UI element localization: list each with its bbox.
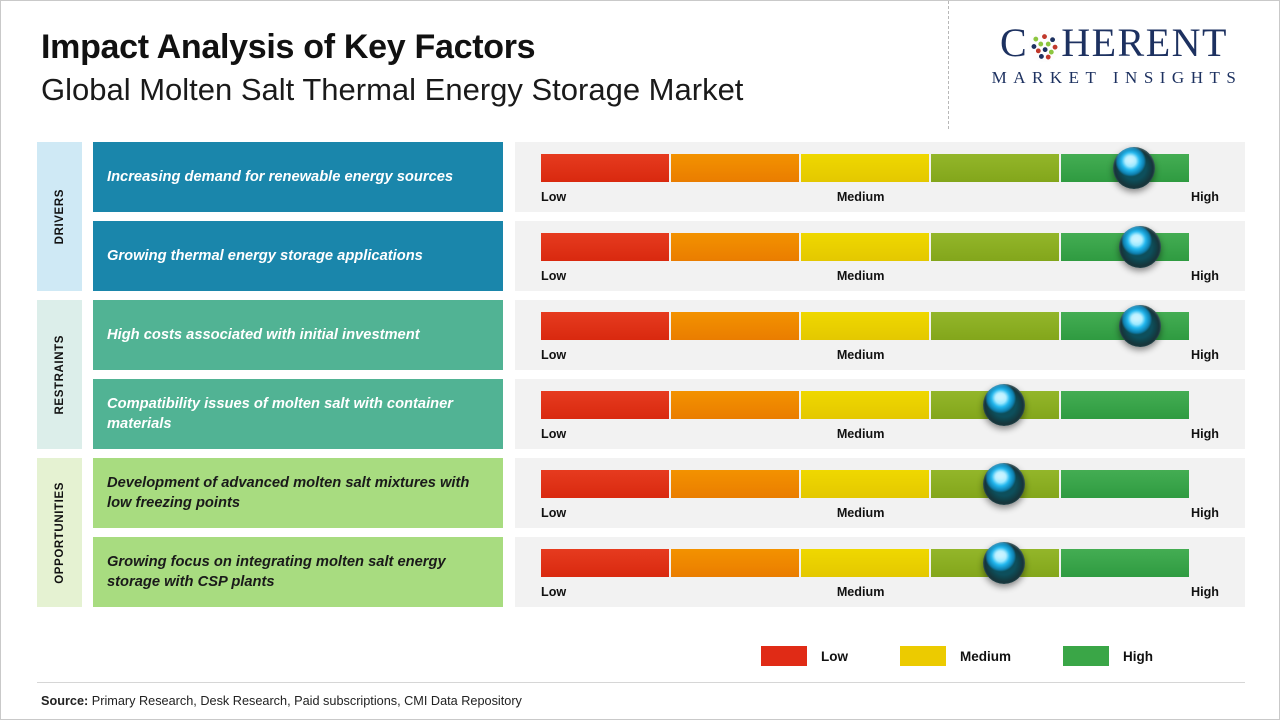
source-note: Source: Primary Research, Desk Research,… bbox=[41, 694, 522, 708]
page-title: Impact Analysis of Key Factors bbox=[41, 27, 743, 67]
gauge-bar bbox=[541, 391, 1189, 419]
scale-label-high: High bbox=[1191, 190, 1219, 204]
legend-swatch bbox=[1063, 646, 1109, 666]
gauge-segment-3 bbox=[801, 470, 929, 498]
impact-marker[interactable] bbox=[983, 463, 1025, 505]
gauge-segment-1 bbox=[541, 391, 669, 419]
gauge-segment-4 bbox=[931, 312, 1059, 340]
gauge-segment-2 bbox=[671, 312, 799, 340]
impact-gauge: LowMediumHigh bbox=[515, 379, 1245, 449]
legend-label: High bbox=[1123, 649, 1153, 664]
scale-label-medium: Medium bbox=[548, 269, 1173, 283]
impact-gauge: LowMediumHigh bbox=[515, 537, 1245, 607]
factor-row: Development of advanced molten salt mixt… bbox=[93, 458, 1245, 528]
gauge-segment-1 bbox=[541, 154, 669, 182]
gauge-segment-4 bbox=[931, 154, 1059, 182]
infographic-page: Impact Analysis of Key Factors Global Mo… bbox=[0, 0, 1280, 720]
gauge-segment-3 bbox=[801, 549, 929, 577]
gauge-segment-1 bbox=[541, 470, 669, 498]
gauge-segment-1 bbox=[541, 312, 669, 340]
factor-row: High costs associated with initial inves… bbox=[93, 300, 1245, 370]
gauge-scale-labels: LowMediumHigh bbox=[541, 425, 1219, 443]
impact-marker[interactable] bbox=[1113, 147, 1155, 189]
gauge-segment-5 bbox=[1061, 391, 1189, 419]
category-label-text: OPPORTUNITIES bbox=[54, 482, 66, 584]
gauge-segment-5 bbox=[1061, 470, 1189, 498]
scale-label-high: High bbox=[1191, 506, 1219, 520]
impact-gauge: LowMediumHigh bbox=[515, 221, 1245, 291]
factor-row: Compatibility issues of molten salt with… bbox=[93, 379, 1245, 449]
factor-text-box: Compatibility issues of molten salt with… bbox=[93, 379, 503, 449]
gauge-segment-2 bbox=[671, 233, 799, 261]
logo-letter-c: C bbox=[1000, 23, 1028, 63]
gauge-segment-3 bbox=[801, 233, 929, 261]
factor-row: Growing focus on integrating molten salt… bbox=[93, 537, 1245, 607]
factor-text-box: Growing focus on integrating molten salt… bbox=[93, 537, 503, 607]
gauge-segment-3 bbox=[801, 312, 929, 340]
page-subtitle: Global Molten Salt Thermal Energy Storag… bbox=[41, 71, 743, 108]
gauge-segment-2 bbox=[671, 549, 799, 577]
impact-gauge: LowMediumHigh bbox=[515, 142, 1245, 212]
factor-text-box: Development of advanced molten salt mixt… bbox=[93, 458, 503, 528]
category-group: RESTRAINTSHigh costs associated with ini… bbox=[37, 300, 1245, 449]
legend-item: Medium bbox=[900, 646, 1011, 666]
footer-divider bbox=[37, 682, 1245, 683]
scale-label-high: High bbox=[1191, 348, 1219, 362]
gauge-bar bbox=[541, 233, 1189, 261]
scale-label-medium: Medium bbox=[548, 348, 1173, 362]
factor-text-box: High costs associated with initial inves… bbox=[93, 300, 503, 370]
category-label-opportunities: OPPORTUNITIES bbox=[37, 458, 82, 607]
legend: LowMediumHigh bbox=[761, 646, 1201, 666]
impact-matrix: DRIVERSIncreasing demand for renewable e… bbox=[37, 142, 1245, 607]
factor-row: Increasing demand for renewable energy s… bbox=[93, 142, 1245, 212]
legend-label: Medium bbox=[960, 649, 1011, 664]
category-label-restraints: RESTRAINTS bbox=[37, 300, 82, 449]
gauge-segment-4 bbox=[931, 233, 1059, 261]
scale-label-medium: Medium bbox=[548, 190, 1173, 204]
category-group: DRIVERSIncreasing demand for renewable e… bbox=[37, 142, 1245, 291]
legend-swatch bbox=[900, 646, 946, 666]
logo-wordmark: C HERENT bbox=[964, 23, 1264, 63]
gauge-segment-2 bbox=[671, 470, 799, 498]
scale-label-high: High bbox=[1191, 269, 1219, 283]
factor-rows: Development of advanced molten salt mixt… bbox=[93, 458, 1245, 607]
factor-row: Growing thermal energy storage applicati… bbox=[93, 221, 1245, 291]
gauge-bar bbox=[541, 312, 1189, 340]
gauge-bar bbox=[541, 154, 1189, 182]
gauge-bar bbox=[541, 549, 1189, 577]
factor-text-box: Increasing demand for renewable energy s… bbox=[93, 142, 503, 212]
category-group: OPPORTUNITIESDevelopment of advanced mol… bbox=[37, 458, 1245, 607]
gauge-segment-2 bbox=[671, 154, 799, 182]
impact-gauge: LowMediumHigh bbox=[515, 300, 1245, 370]
header: Impact Analysis of Key Factors Global Mo… bbox=[41, 27, 743, 108]
logo-letters-herent: HERENT bbox=[1061, 23, 1228, 63]
source-text: Primary Research, Desk Research, Paid su… bbox=[88, 694, 522, 708]
impact-gauge: LowMediumHigh bbox=[515, 458, 1245, 528]
dotted-globe-icon bbox=[1029, 31, 1060, 62]
company-logo: C HERENT MARKET INSIGHTS bbox=[964, 23, 1264, 88]
gauge-segment-3 bbox=[801, 391, 929, 419]
factor-text-box: Growing thermal energy storage applicati… bbox=[93, 221, 503, 291]
scale-label-medium: Medium bbox=[548, 427, 1173, 441]
impact-marker[interactable] bbox=[1119, 226, 1161, 268]
impact-marker[interactable] bbox=[983, 384, 1025, 426]
gauge-scale-labels: LowMediumHigh bbox=[541, 583, 1219, 601]
scale-label-medium: Medium bbox=[548, 506, 1173, 520]
gauge-segment-2 bbox=[671, 391, 799, 419]
gauge-scale-labels: LowMediumHigh bbox=[541, 267, 1219, 285]
legend-item: High bbox=[1063, 646, 1153, 666]
impact-marker[interactable] bbox=[983, 542, 1025, 584]
factor-rows: High costs associated with initial inves… bbox=[93, 300, 1245, 449]
scale-label-medium: Medium bbox=[548, 585, 1173, 599]
gauge-segment-1 bbox=[541, 549, 669, 577]
gauge-scale-labels: LowMediumHigh bbox=[541, 346, 1219, 364]
scale-label-high: High bbox=[1191, 585, 1219, 599]
logo-divider bbox=[948, 1, 949, 129]
factor-rows: Increasing demand for renewable energy s… bbox=[93, 142, 1245, 291]
source-label: Source: bbox=[41, 694, 88, 708]
category-label-drivers: DRIVERS bbox=[37, 142, 82, 291]
legend-item: Low bbox=[761, 646, 848, 666]
category-label-text: RESTRAINTS bbox=[54, 335, 66, 414]
logo-tagline: MARKET INSIGHTS bbox=[964, 68, 1264, 88]
impact-marker[interactable] bbox=[1119, 305, 1161, 347]
gauge-bar bbox=[541, 470, 1189, 498]
scale-label-high: High bbox=[1191, 427, 1219, 441]
gauge-scale-labels: LowMediumHigh bbox=[541, 504, 1219, 522]
gauge-segment-5 bbox=[1061, 549, 1189, 577]
legend-label: Low bbox=[821, 649, 848, 664]
gauge-segment-3 bbox=[801, 154, 929, 182]
gauge-segment-1 bbox=[541, 233, 669, 261]
legend-swatch bbox=[761, 646, 807, 666]
gauge-scale-labels: LowMediumHigh bbox=[541, 188, 1219, 206]
category-label-text: DRIVERS bbox=[54, 189, 66, 244]
